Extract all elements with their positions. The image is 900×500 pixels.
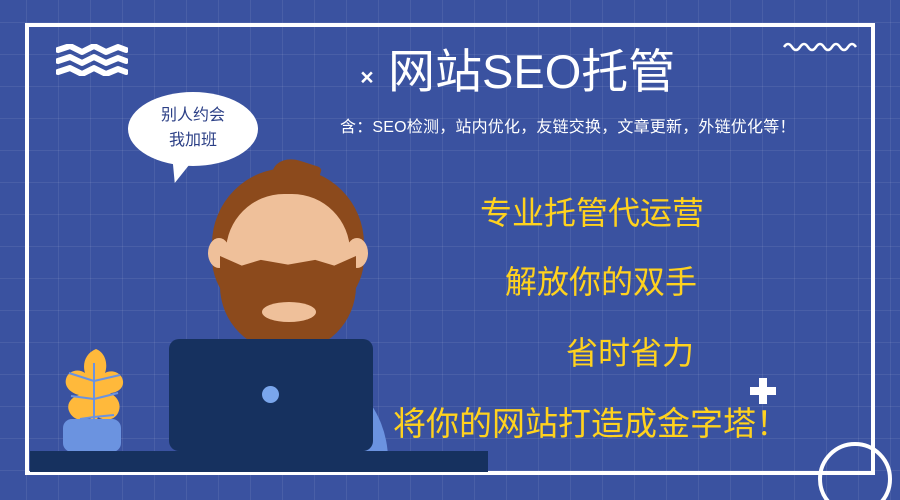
laptop-logo-dot <box>262 386 279 403</box>
speech-bubble-text: 别人约会 我加班 <box>128 103 258 153</box>
slogan-line-2: 解放你的双手 <box>505 262 697 302</box>
slogan-line-1: 专业托管代运营 <box>480 193 704 233</box>
banner-subtitle: 含：SEO检测，站内优化，友链交换，文章更新，外链优化等！ <box>340 117 796 139</box>
circle-outline-icon <box>818 442 892 500</box>
speech-bubble: 别人约会 我加班 <box>128 92 258 166</box>
desk-surface <box>30 451 488 472</box>
slogan-line-3: 省时省力 <box>566 333 694 373</box>
slogan-line-4: 将你的网站打造成金字塔！ <box>393 403 789 445</box>
plus-icon <box>750 378 776 404</box>
x-mark-icon: × <box>356 62 378 92</box>
speech-bubble-line-2: 我加班 <box>128 128 258 153</box>
plant-pot <box>63 419 121 452</box>
wavy-lines-icon <box>56 44 128 76</box>
banner-title: 网站SEO托管 <box>388 44 675 100</box>
speech-bubble-line-1: 别人约会 <box>128 103 258 128</box>
plant-leaf-icon <box>60 347 130 429</box>
wavy-line-icon <box>782 38 860 54</box>
person-mouth <box>262 302 316 322</box>
seo-hosting-banner: × 网站SEO托管 含：SEO检测，站内优化，友链交换，文章更新，外链优化等！ … <box>0 0 900 500</box>
